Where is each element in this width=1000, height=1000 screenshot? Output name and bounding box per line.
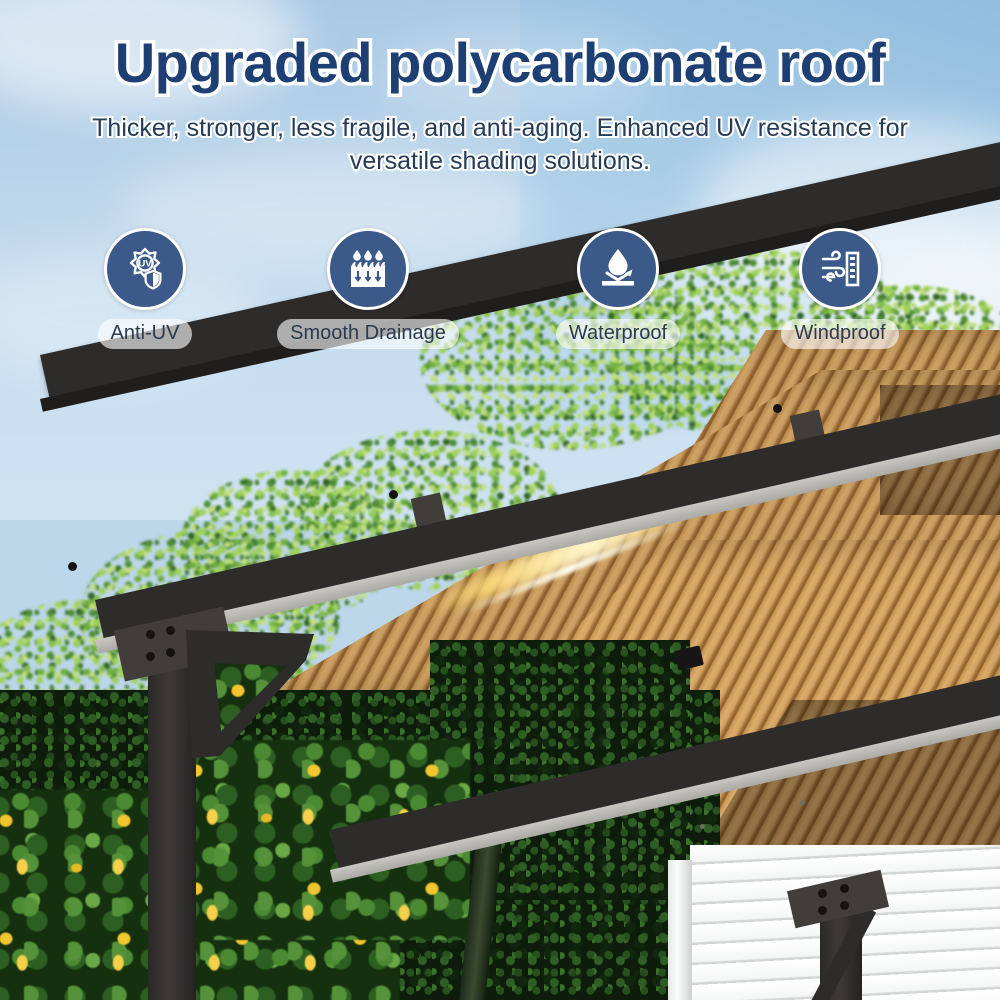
beam-bolt <box>68 562 77 571</box>
feature-icon-badge: UV <box>104 228 186 310</box>
feature-waterproof[interactable]: Waterproof <box>523 228 713 349</box>
page-subtitle: Thicker, stronger, less fragile, and ant… <box>60 112 940 178</box>
feature-icon-badge <box>577 228 659 310</box>
beam-bolt <box>389 490 398 499</box>
post-bolt <box>818 889 827 898</box>
post-bolt <box>166 626 175 635</box>
product-feature-banner: Upgraded polycarbonate roof Thicker, str… <box>0 0 1000 1000</box>
feature-label: Waterproof <box>556 319 680 349</box>
post-bolt <box>840 901 849 910</box>
water-repellent-droplet-icon <box>594 245 642 293</box>
post-bolt <box>166 648 175 657</box>
feature-label: Anti-UV <box>98 319 193 349</box>
rail-screw <box>700 824 705 829</box>
rail-screw <box>800 800 805 805</box>
droplets-drainage-icon <box>344 245 392 293</box>
sun-uv-shield-icon: UV <box>121 245 169 293</box>
beam-bolt <box>773 404 782 413</box>
post-bolt <box>840 884 849 893</box>
feature-anti-uv[interactable]: UV Anti-UV <box>50 228 240 349</box>
feature-icon-badge <box>799 228 881 310</box>
feature-label: Windproof <box>781 319 898 349</box>
post-bolt <box>818 906 827 915</box>
feature-smooth-drainage[interactable]: Smooth Drainage <box>273 228 463 349</box>
page-title: Upgraded polycarbonate roof <box>0 30 1000 95</box>
wind-panel-icon <box>816 245 864 293</box>
feature-icon-row: UV Anti-UV <box>0 228 1000 358</box>
house-corner-post <box>668 860 692 1000</box>
post-bolt <box>146 652 155 661</box>
feature-windproof[interactable]: Windproof <box>745 228 935 349</box>
post-bolt <box>146 630 155 639</box>
feature-icon-badge <box>327 228 409 310</box>
feature-label: Smooth Drainage <box>277 319 459 349</box>
svg-text:UV: UV <box>138 259 152 270</box>
